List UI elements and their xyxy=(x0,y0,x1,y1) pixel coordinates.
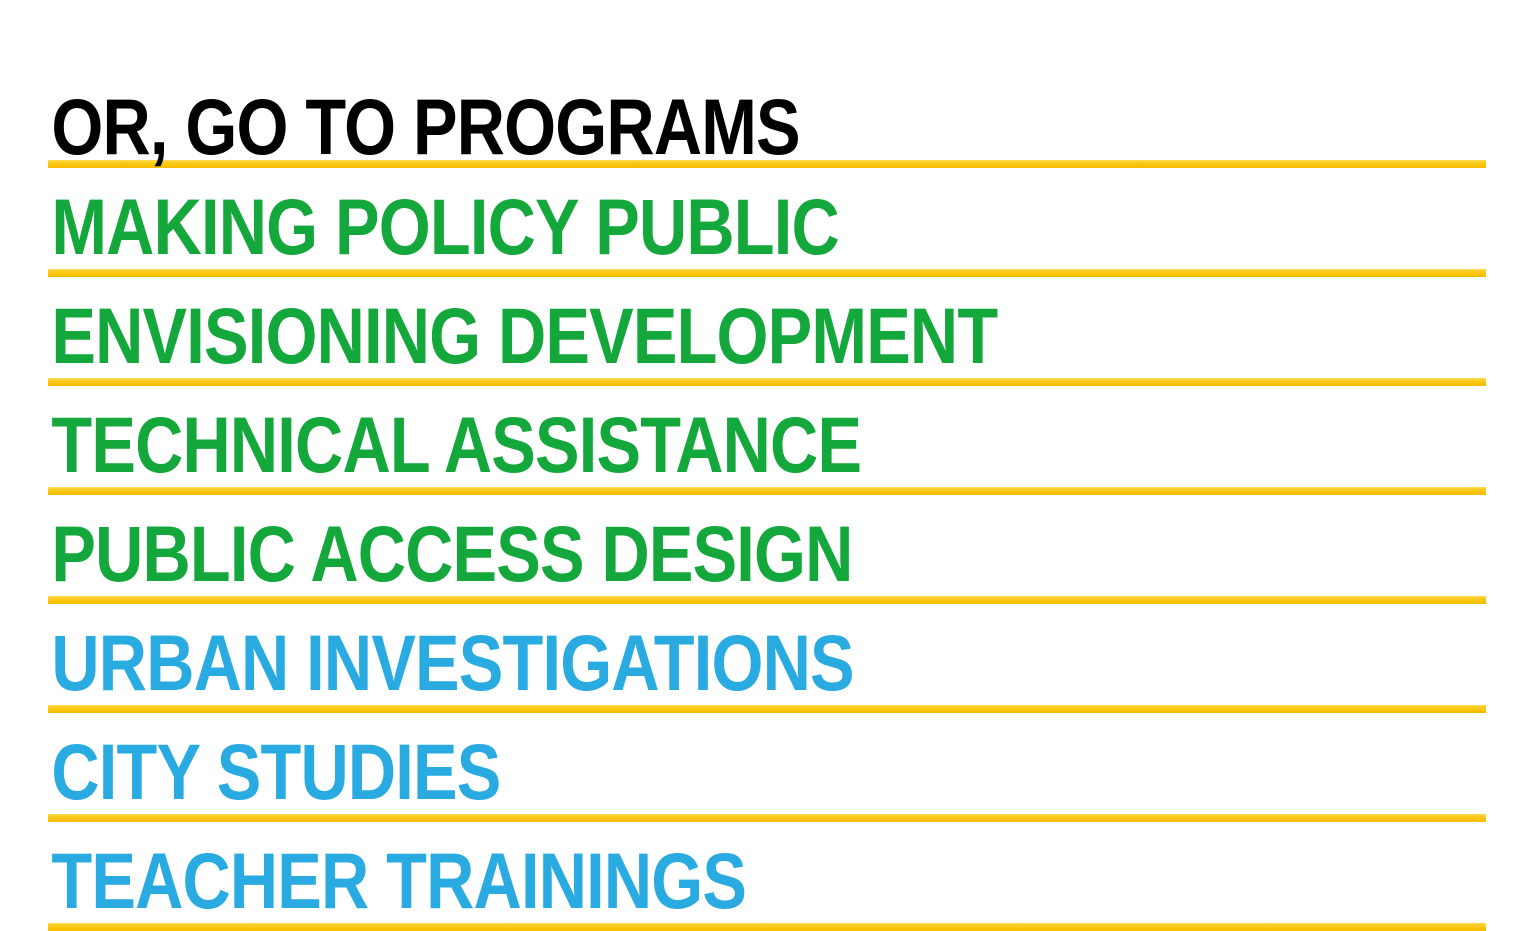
program-row-4[interactable]: PUBLIC ACCESS DESIGN xyxy=(48,495,1486,596)
program-row-5[interactable]: URBAN INVESTIGATIONS xyxy=(48,604,1486,705)
program-link-urban-investigations[interactable]: URBAN INVESTIGATIONS xyxy=(48,628,854,705)
program-link-city-studies[interactable]: CITY STUDIES xyxy=(48,737,500,814)
page-title: OR, GO TO PROGRAMS xyxy=(48,94,800,160)
program-link-technical-assistance[interactable]: TECHNICAL ASSISTANCE xyxy=(48,410,861,487)
programs-menu: OR, GO TO PROGRAMS MAKING POLICY PUBLIC … xyxy=(48,74,1486,931)
page-root: OR, GO TO PROGRAMS MAKING POLICY PUBLIC … xyxy=(0,0,1536,922)
program-row-7[interactable]: TEACHER TRAININGS xyxy=(48,822,1486,923)
program-link-making-policy-public[interactable]: MAKING POLICY PUBLIC xyxy=(48,192,839,269)
divider-rule-8 xyxy=(48,923,1486,931)
program-row-1[interactable]: MAKING POLICY PUBLIC xyxy=(48,168,1486,269)
heading-row: OR, GO TO PROGRAMS xyxy=(48,74,1486,160)
program-row-6[interactable]: CITY STUDIES xyxy=(48,713,1486,814)
program-row-3[interactable]: TECHNICAL ASSISTANCE xyxy=(48,386,1486,487)
program-link-public-access-design[interactable]: PUBLIC ACCESS DESIGN xyxy=(48,519,853,596)
program-link-envisioning-development[interactable]: ENVISIONING DEVELOPMENT xyxy=(48,301,997,378)
program-row-2[interactable]: ENVISIONING DEVELOPMENT xyxy=(48,277,1486,378)
program-link-teacher-trainings[interactable]: TEACHER TRAININGS xyxy=(48,846,746,923)
